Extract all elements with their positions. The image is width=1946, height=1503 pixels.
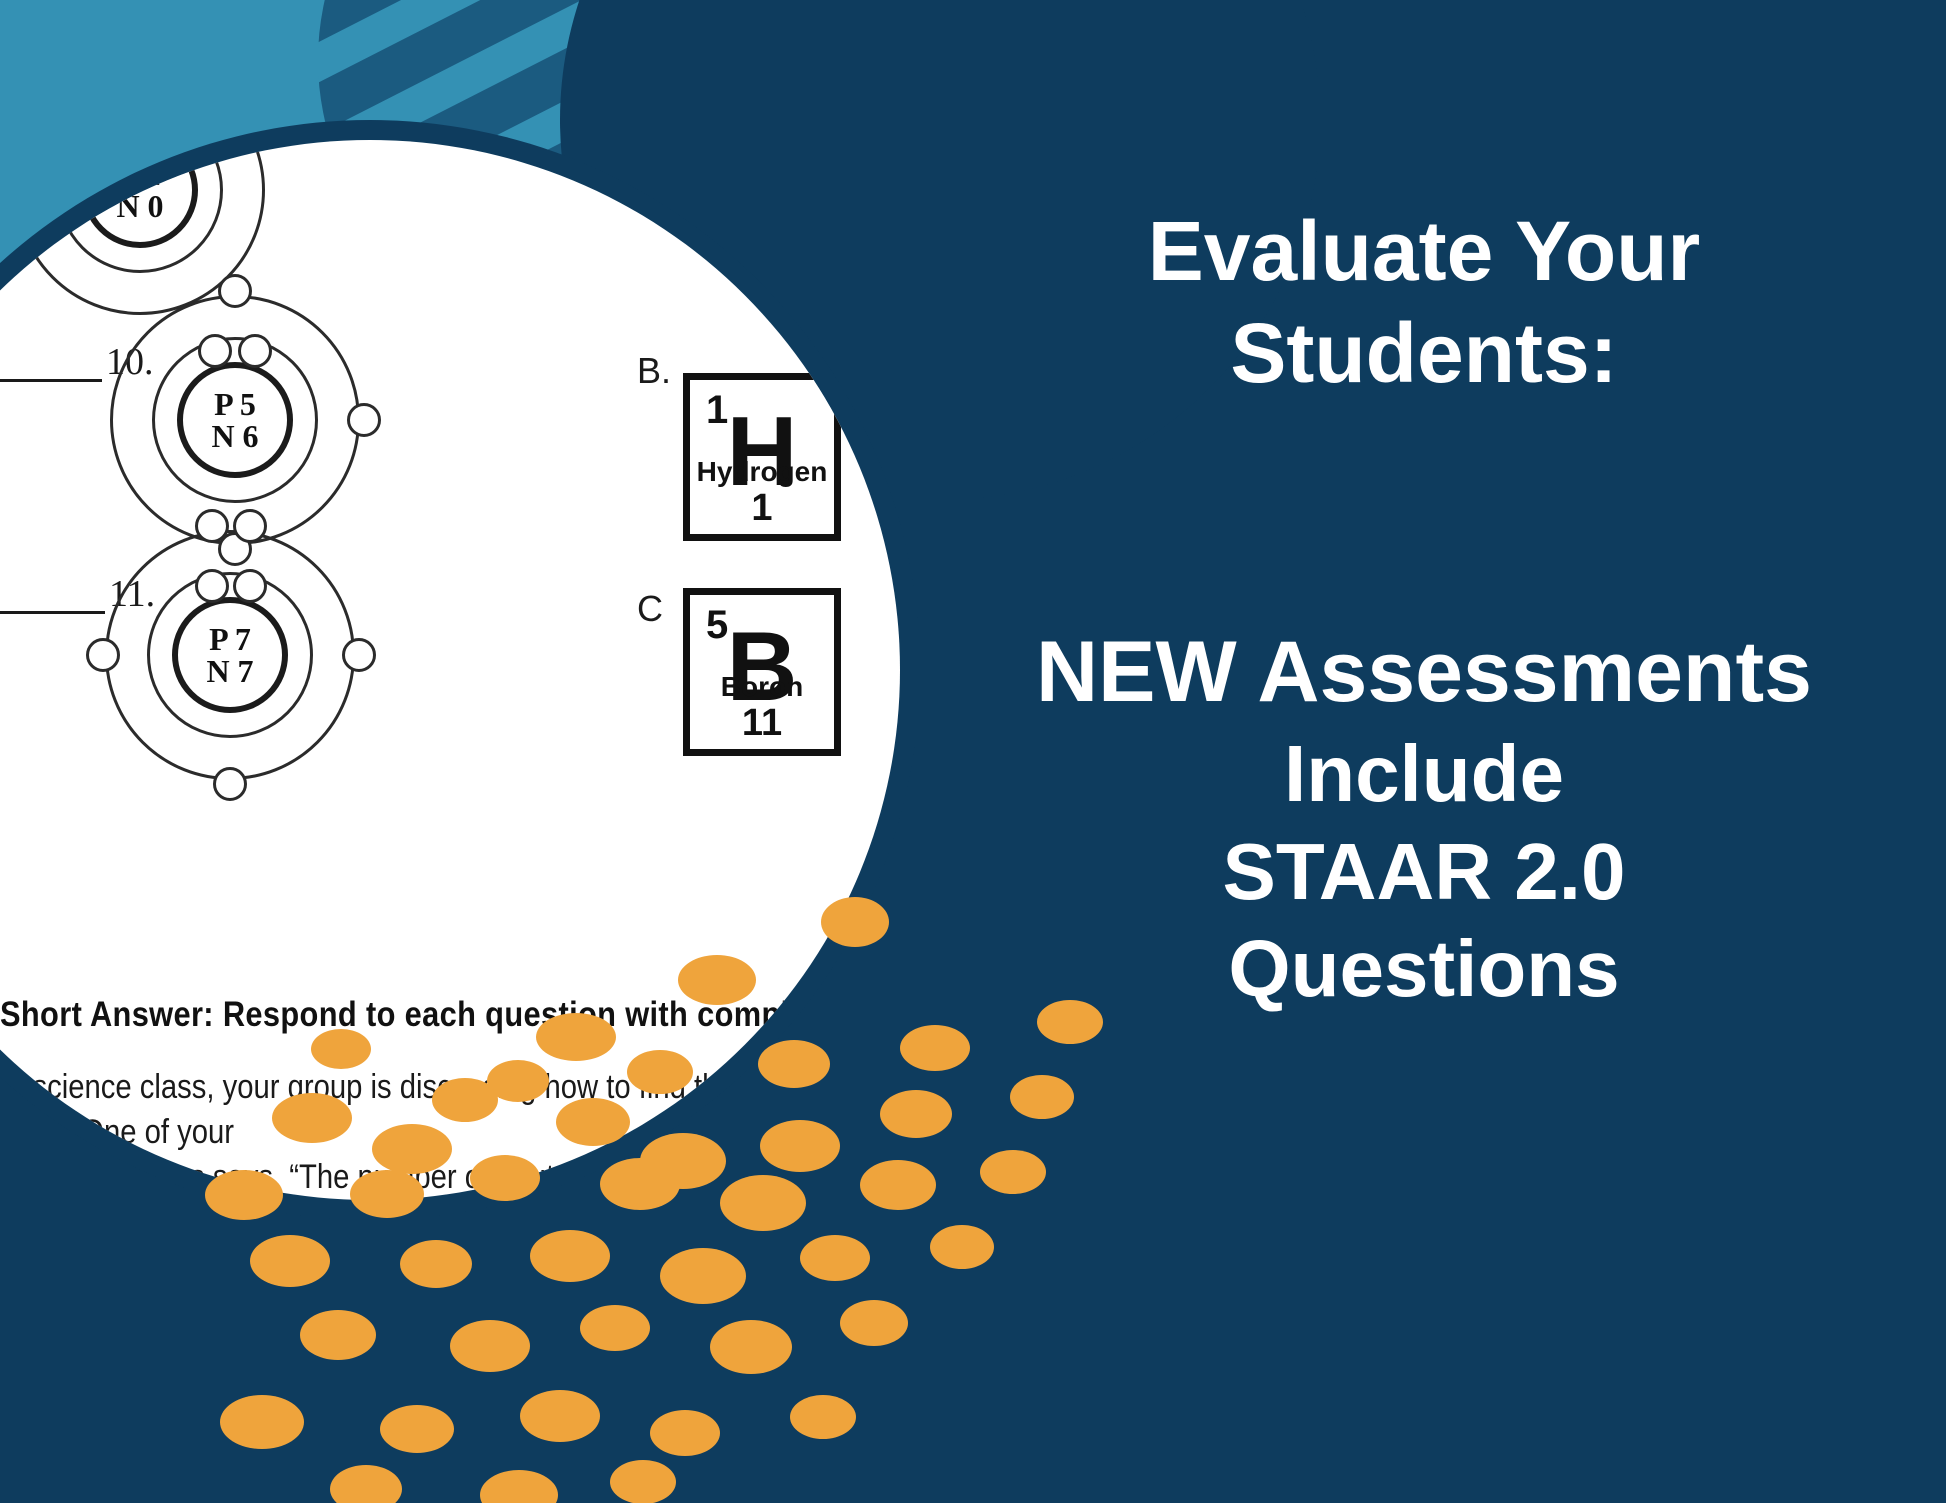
nucleus-neutrons: N 6 — [211, 420, 258, 452]
confetti-dot — [790, 1395, 856, 1439]
element-mass: 11 — [690, 702, 834, 745]
electron-dot — [195, 509, 229, 543]
confetti-dot — [900, 1025, 970, 1071]
electron-dot — [342, 638, 376, 672]
bohr-model-boron: P 5 N 6 — [105, 290, 365, 550]
answer-rule — [0, 349, 102, 382]
confetti-dot — [205, 1170, 283, 1220]
electron-dot — [347, 403, 381, 437]
worksheet-circle-window: P 1 N 0 10. P 5 N 6 — [0, 140, 900, 1200]
confetti-dot — [720, 1175, 806, 1231]
element-mass: 1 — [690, 487, 834, 530]
electron-dot — [233, 509, 267, 543]
electron-dot — [238, 334, 272, 368]
confetti-dot — [600, 1158, 680, 1210]
confetti-dot — [821, 897, 889, 947]
nucleus-protons: P 5 — [214, 388, 256, 420]
nucleus-neutrons: N 0 — [116, 190, 163, 222]
confetti-dot — [980, 1150, 1046, 1194]
choice-letter-b: B. — [637, 350, 671, 392]
confetti-dot — [272, 1093, 352, 1143]
confetti-dot — [220, 1395, 304, 1449]
electron-dot — [195, 569, 229, 603]
confetti-dot — [758, 1040, 830, 1088]
headline-primary: Evaluate Your Students: — [924, 200, 1924, 405]
element-name: Boron — [690, 671, 834, 703]
confetti-dot — [380, 1405, 454, 1453]
short-answer-heading: Short Answer: Respond to each question w… — [0, 995, 900, 1035]
confetti-dot — [330, 1465, 402, 1503]
confetti-dot — [470, 1155, 540, 1201]
headline-line-3: NEW Assessments — [924, 620, 1924, 725]
confetti-dot — [480, 1470, 558, 1503]
headline-line-2: Students: — [924, 302, 1924, 404]
confetti-dot — [556, 1098, 630, 1146]
confetti-dot — [487, 1060, 549, 1102]
headline-secondary: NEW Assessments Include STAAR 2.0 Questi… — [924, 620, 1924, 1018]
confetti-dot — [400, 1240, 472, 1288]
confetti-dot — [710, 1320, 792, 1374]
nucleus-neutrons: N 7 — [206, 655, 253, 687]
confetti-dot — [930, 1225, 994, 1269]
confetti-dot — [372, 1124, 452, 1174]
element-name: Hydrogen — [690, 456, 834, 488]
confetti-dot — [660, 1248, 746, 1304]
bohr-model-nitrogen: P 7 N 7 — [100, 525, 360, 785]
confetti-dot — [530, 1230, 610, 1282]
headline-line-4: Include — [924, 725, 1924, 823]
electron-dot — [233, 569, 267, 603]
confetti-dot — [300, 1310, 376, 1360]
confetti-dot — [450, 1320, 530, 1372]
atom-nucleus: P 7 N 7 — [172, 597, 288, 713]
answer-rule — [0, 581, 105, 614]
confetti-dot — [627, 1050, 693, 1094]
confetti-dot — [250, 1235, 330, 1287]
confetti-dot — [580, 1305, 650, 1351]
headline-line-5: STAAR 2.0 — [924, 823, 1924, 921]
headline-line-6: Questions — [924, 920, 1924, 1018]
electron-dot — [198, 334, 232, 368]
element-tile-boron: 5 B Boron 11 — [683, 588, 841, 756]
confetti-dot — [1010, 1075, 1074, 1119]
confetti-dot — [840, 1300, 908, 1346]
confetti-dot — [520, 1390, 600, 1442]
atom-nucleus: P 5 N 6 — [177, 362, 293, 478]
choice-letter-c: C — [637, 588, 663, 630]
confetti-dot — [311, 1029, 371, 1069]
worksheet-page: P 1 N 0 10. P 5 N 6 — [0, 140, 900, 1200]
confetti-dot — [650, 1410, 720, 1456]
nucleus-protons: P 1 — [119, 158, 161, 190]
electron-dot — [218, 274, 252, 308]
confetti-dot — [678, 955, 756, 1005]
electron-dot — [86, 638, 120, 672]
confetti-dot — [860, 1160, 936, 1210]
confetti-dot — [610, 1460, 676, 1503]
confetti-dot — [760, 1120, 840, 1172]
confetti-dot — [800, 1235, 870, 1281]
poster-canvas: P 1 N 0 10. P 5 N 6 — [0, 0, 1946, 1503]
confetti-dot — [536, 1013, 616, 1061]
nucleus-protons: P 7 — [209, 623, 251, 655]
headline-line-1: Evaluate Your — [924, 200, 1924, 302]
confetti-dot — [880, 1090, 952, 1138]
element-tile-hydrogen: 1 H Hydrogen 1 — [683, 373, 841, 541]
electron-dot — [213, 767, 247, 801]
confetti-dot — [350, 1170, 424, 1218]
